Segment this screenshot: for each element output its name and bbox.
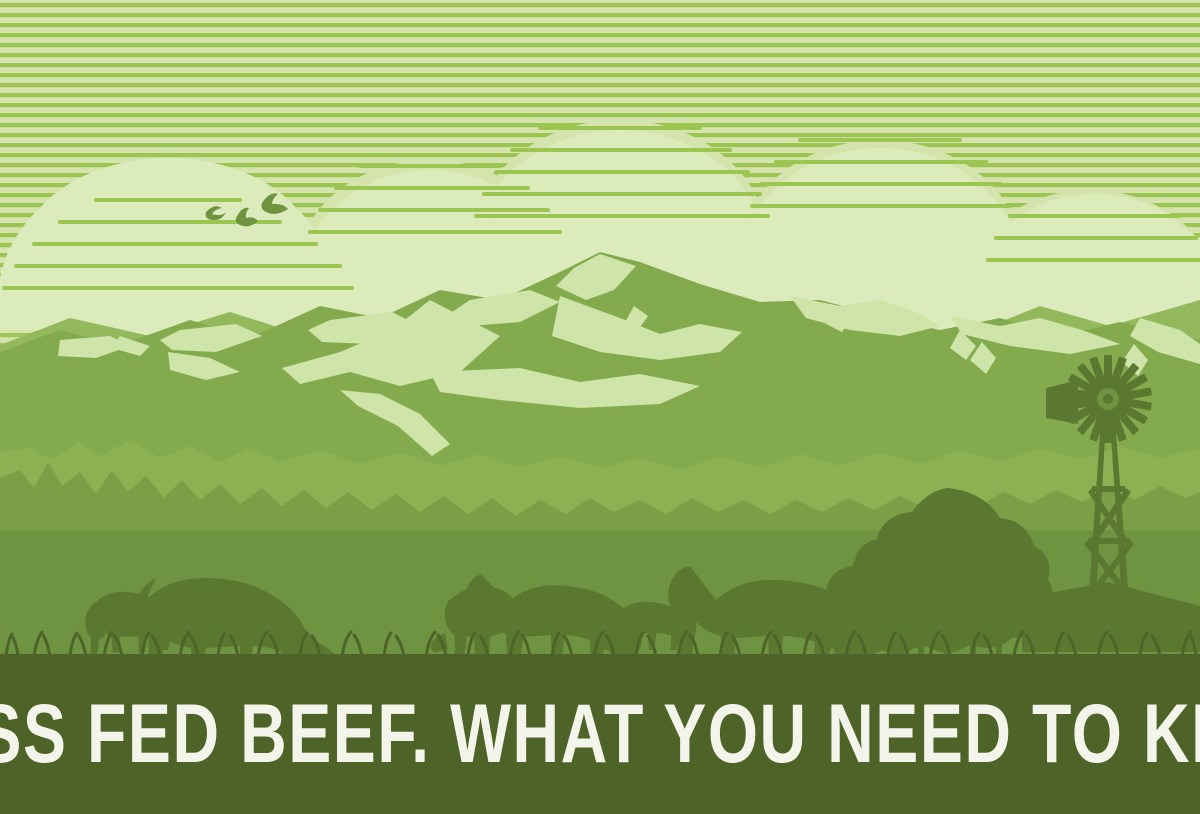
poster-root: GRASS FED BEEF. WHAT YOU NEED TO KNOW. <box>0 0 1200 814</box>
headline-banner <box>0 654 1200 814</box>
foreground-layer <box>0 632 1200 814</box>
landscape-illustration <box>0 0 1200 814</box>
